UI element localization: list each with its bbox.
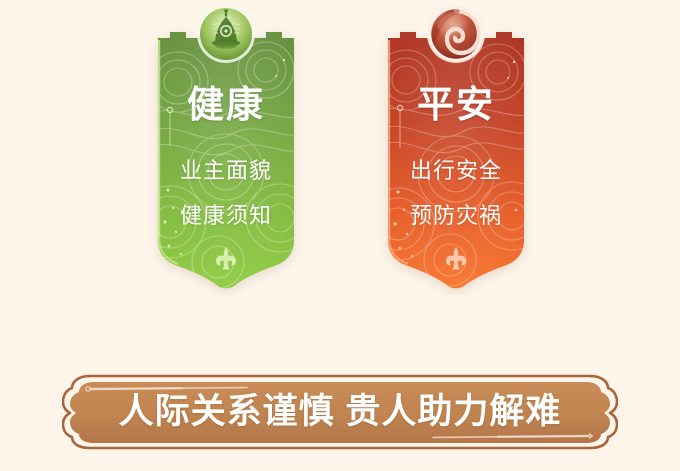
bottom-banner-text: 人际关系谨慎 贵人助力解难 <box>62 390 618 434</box>
poster-canvas: 健康 业主面貌 健康须知 <box>0 0 680 471</box>
plaque-health[interactable]: 健康 业主面貌 健康须知 <box>148 22 304 290</box>
bell-buddha-emblem-icon <box>195 3 257 65</box>
plaque-row: 健康 业主面貌 健康须知 <box>0 0 680 310</box>
plaque-safety[interactable]: 平安 出行安全 预防灾祸 <box>378 22 534 290</box>
spiral-swirl-emblem-icon <box>425 3 487 65</box>
bottom-banner[interactable]: 人际关系谨慎 贵人助力解难 <box>62 374 618 450</box>
